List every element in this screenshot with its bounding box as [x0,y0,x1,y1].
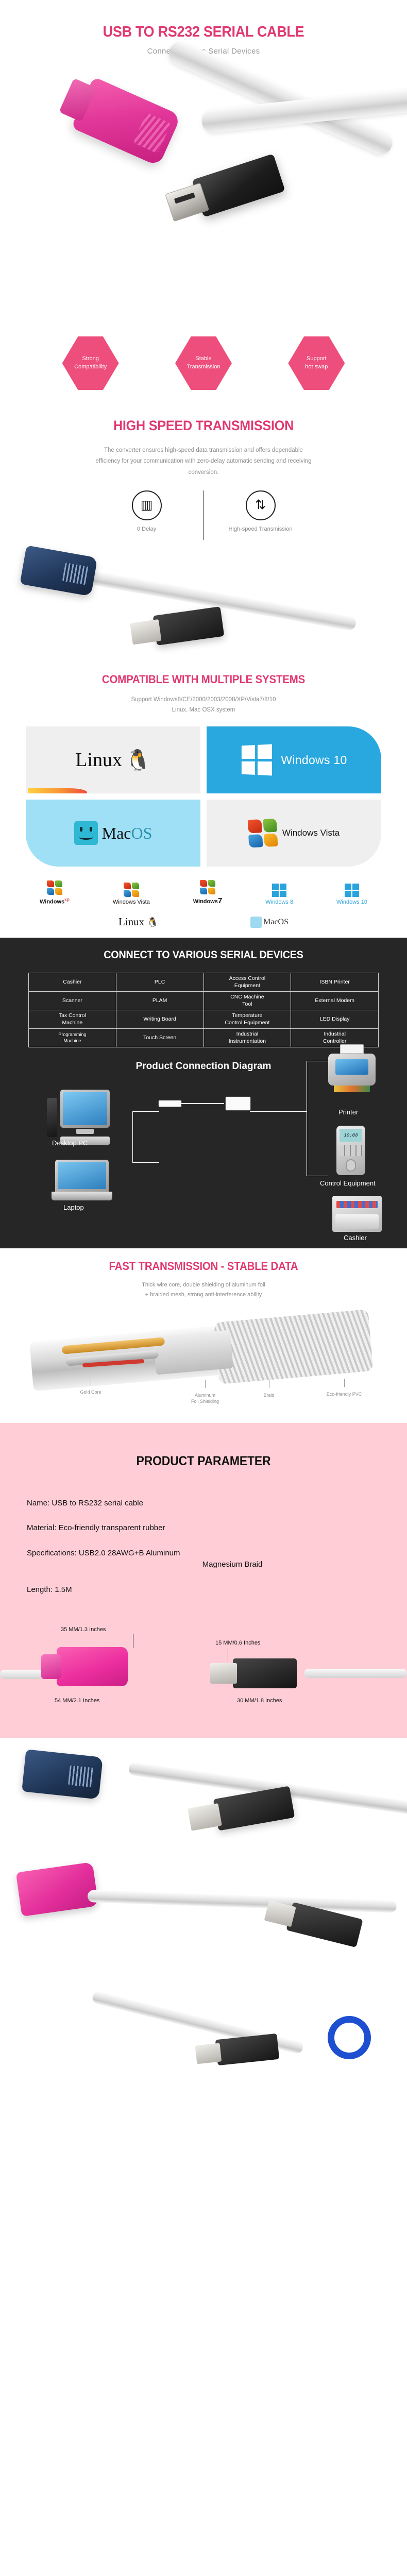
windows-flag-icon [242,744,272,776]
hexagon-shape: Support hot swap [288,336,345,390]
desktop-pc-icon [60,1090,110,1145]
hexagon-shape: Stable Transmission [175,336,232,390]
fast-transmission-title: FAST TRANSMISSION - STABLE DATA [14,1260,393,1273]
windows10-label: Windows 10 [281,753,347,767]
dim-tick [228,1648,228,1662]
cable-line [181,1103,224,1105]
connection-diagram: Desktop PC Laptop Printer [23,1078,384,1248]
pc-tower-icon [47,1098,57,1137]
feature-high-speed: ⇅ High-speed Transmission [209,490,312,532]
db9-connector-icon [22,1749,103,1799]
linux-mini: Linux 🐧 [118,916,159,928]
feature-zero-delay: ▥ 0 Delay [95,490,198,532]
callout-tick [344,1379,345,1387]
db9-connector-icon [71,77,181,166]
usb-to-rs232-cable-diagram [158,1100,251,1107]
table-cell: PLC [116,973,203,992]
access-terminal-body: 10:08 [336,1126,365,1175]
badge-line1: Strong [82,355,98,362]
vista-flag-icon [248,819,278,848]
feature-badges: Strong Compatibility Stable Transmission… [0,322,407,404]
access-terminal-display: 10:08 [340,1129,362,1142]
callout-tick [91,1378,91,1386]
fast-desc-line2: + braided mesh, strong anti-interference… [0,1290,407,1300]
table-cell: Access Control Equipment [203,973,291,992]
wire-vertical-right [307,1061,307,1176]
param-value: USB2.0 28AWG+B Aluminum [79,1549,180,1557]
vista-flag-icon [200,880,215,894]
param-value: 1.5M [55,1585,72,1594]
dim-tick [133,1634,133,1648]
page-title: USB TO RS232 SERIAL CABLE [14,0,393,41]
compat-desc-line2: Linux, Mac OSX system [0,705,407,715]
linux-wordmark: Linux [75,749,122,771]
serial-devices-section: CONNECT TO VARIOUS SERIAL DEVICES Cashie… [0,938,407,1248]
table-row: Scanner PLAM CNC Machine Tool External M… [29,992,379,1010]
register-keys [336,1201,378,1208]
wire-vertical-left [132,1111,133,1163]
table-cell: ISBN Printer [291,973,379,992]
compatibility-section: COMPATIBLE WITH MULTIPLE SYSTEMS Support… [0,662,407,938]
parameter-list: Name: USB to RS232 serial cable Material… [27,1498,407,1596]
mini-label: Windows Vista [113,899,150,905]
cashier-icon [332,1196,382,1232]
param-value-cont: Magnesium Braid [27,1559,407,1571]
monitor-icon [60,1090,110,1128]
vertical-divider [203,490,204,540]
finder-face-icon [74,821,98,845]
windows-flag-icon [272,884,286,897]
param-label: Specifications: [27,1549,77,1557]
parameter-row-specifications: Specifications: USB2.0 28AWG+B Aluminum … [27,1548,407,1571]
high-speed-feature-row: ▥ 0 Delay ⇅ High-speed Transmission [0,490,407,540]
device-table: Cashier PLC Access Control Equipment ISB… [28,973,379,1047]
wire-printer-branch [307,1061,328,1061]
cutaway-callouts: Gold Core Aluminum Foil Shielding Braid … [0,1382,407,1418]
hero-product-photo [0,44,407,322]
wire-horizontal-laptop [132,1162,159,1163]
os-logo-grid: Linux 🐧 Windows 10 MacOS Windows Vista [26,726,381,867]
db9-connector-icon [20,545,97,596]
badge-text: Support hot swap [305,355,328,371]
gold-core-callout: Gold Core [65,1389,116,1396]
vista-flag-icon [47,880,62,895]
badge-stable-transmission: Stable Transmission [173,336,234,390]
vista-label: Windows Vista [282,828,340,838]
product-shot-pink-db9 [0,1849,407,1959]
table-cell: Writing Board [116,1010,203,1029]
fast-transmission-description: Thick wire core, double shielding of alu… [0,1280,407,1300]
product-shot-coiled-cable [0,1959,407,2083]
product-detail-page: USB TO RS232 SERIAL CABLE Connect Variou… [0,0,407,2083]
mini-label: Windowsxp [40,897,70,905]
printer-icon [328,1044,376,1092]
usb-a-connector-icon [192,154,285,217]
cable-roll-icon: ▥ [132,490,162,520]
cable-coil-icon [328,2016,371,2059]
access-keypad [340,1145,362,1156]
table-cell: Temperature Control Equipment [203,1010,291,1029]
table-cell: Touch Screen [116,1029,203,1047]
mini-label: Windows 10 [336,899,367,905]
pvc-callout: Eco-friendly PVC [303,1391,385,1398]
diagram-label-control: Control Equipment [320,1179,376,1187]
diagram-label-laptop: Laptop [63,1204,84,1211]
windows-7-mini: Windows7 [193,880,223,905]
feature-label: High-speed Transmission [209,526,312,532]
windows-10-mini: Windows 10 [336,884,367,905]
table-cell: Programming Machine [29,1029,116,1047]
table-cell: Scanner [29,992,116,1010]
hexagon-shape: Strong Compatibility [62,336,119,390]
table-row: Tax Control Machine Writing Board Temper… [29,1010,379,1029]
diagram-label-desktop: Desktop PC [52,1139,88,1147]
badge-line2: Compatibility [74,364,107,370]
db9-connector-icon [16,1862,99,1917]
fast-desc-line1: Thick wire core, double shielding of alu… [0,1280,407,1290]
table-cell: Cashier [29,973,116,992]
printer-body [328,1054,376,1086]
diagram-label-printer: Printer [338,1108,358,1116]
macos-mini: MacOS [250,917,289,928]
macos-label: MacOS [263,918,289,927]
high-speed-title: HIGH SPEED TRANSMISSION [14,418,393,434]
product-photo-blue-connector [0,543,407,662]
usb-length-dim: 30 MM/1.8 Inches [237,1698,282,1704]
mini-label: Windows7 [193,896,223,905]
db9-plug-icon [225,1096,251,1111]
high-speed-description: The converter ensures high-speed data tr… [93,445,314,478]
cable-sheath-secondary-icon [201,88,407,134]
tux-penguin-icon: 🐧 [125,748,151,772]
wire-horizontal-left [132,1111,159,1112]
finder-face-icon [250,917,262,928]
parameter-row-length: Length: 1.5M [27,1584,407,1596]
db9-length-dim: 35 MM/1.3 Inches [61,1626,106,1633]
cable-right [304,1669,407,1678]
wire-horizontal-right [250,1111,307,1112]
usb-plug-icon [158,1100,182,1107]
cable-cutaway-diagram: Gold Core Aluminum Foil Shielding Braid … [0,1304,407,1423]
windows-vista-mini: Windows Vista [113,883,150,905]
badge-text: Strong Compatibility [74,355,107,371]
badge-strong-compatibility: Strong Compatibility [60,336,122,390]
braid-callout: Braid [248,1392,290,1399]
wire-cashier-branch [307,1176,328,1176]
macos-logo-tile: MacOS [26,800,200,867]
badge-line1: Support [307,355,327,362]
diagram-label-cashier: Cashier [344,1234,367,1242]
compatibility-title: COMPATIBLE WITH MULTIPLE SYSTEMS [14,673,393,686]
usb-height-dim: 15 MM/0.6 Inches [215,1640,260,1646]
aluminum-foil-callout: Aluminum Foil Shielding [179,1392,231,1405]
compatibility-description: Support Windows8/CE/2000/2003/2008/XP/Vi… [0,694,407,715]
badge-line1: Stable [195,355,211,362]
callout-tick [205,1380,206,1388]
windows-8-mini: Windows 8 [265,884,293,905]
hero-section: USB TO RS232 SERIAL CABLE Connect Variou… [0,0,407,322]
param-value: Eco-friendly transparent rubber [59,1523,165,1532]
laptop-screen [55,1160,109,1192]
usb-a-connector-icon [233,1658,297,1688]
laptop-icon [55,1160,112,1200]
cable-sheath-icon [88,1890,397,1913]
macos-label: MacOS [102,824,152,843]
param-value: USB to RS232 serial cable [52,1499,143,1507]
control-equipment-icon: 10:08 [336,1126,365,1175]
cash-register-body [332,1196,382,1232]
db9-connector-icon [57,1647,128,1686]
linux-swoosh-icon [28,788,87,793]
feature-label: 0 Delay [95,526,198,532]
up-down-arrows-icon: ⇅ [246,490,276,520]
param-label: Name: [27,1499,49,1507]
vista-flag-icon [124,883,139,897]
register-drawer [335,1214,379,1229]
usb-a-connector-icon [213,1786,295,1831]
compat-desc-line1: Support Windows8/CE/2000/2003/2008/XP/Vi… [0,694,407,705]
windows10-logo-tile: Windows 10 [207,726,381,793]
table-cell: PLAM [116,992,203,1010]
tux-penguin-icon: 🐧 [147,917,158,927]
aluminum-foil-layer [153,1330,233,1375]
laptop-base [52,1192,112,1200]
usb-a-connector-icon [215,2033,280,2065]
badge-text: Stable Transmission [186,355,220,371]
table-row: Cashier PLC Access Control Equipment ISB… [29,973,379,992]
table-cell: LED Display [291,1010,379,1029]
os-mini-logo-row: Windowsxp Windows Vista Windows7 Windows… [18,880,389,905]
linux-logo-tile: Linux 🐧 [26,726,200,793]
table-cell: Industrial Instrumentation [203,1029,291,1047]
parameter-row-name: Name: USB to RS232 serial cable [27,1498,407,1510]
high-speed-section: HIGH SPEED TRANSMISSION The converter en… [0,404,407,543]
product-parameter-section: PRODUCT PARAMETER Name: USB to RS232 ser… [0,1423,407,1738]
dimension-diagram: 35 MM/1.3 Inches 54 MM/2.1 Inches 15 MM/… [0,1609,407,1717]
linux-wordmark: Linux [118,916,144,928]
db9-width-dim: 54 MM/2.1 Inches [55,1698,99,1704]
fast-transmission-section: FAST TRANSMISSION - STABLE DATA Thick wi… [0,1248,407,1423]
braided-shell [214,1309,373,1384]
badge-line2: hot swap [305,364,328,370]
badge-line2: Transmission [186,364,220,370]
windows-flag-icon [345,884,359,897]
badge-support-hot-swap: Support hot swap [285,336,347,390]
printer-paper [340,1044,364,1054]
callout-tick [269,1380,269,1388]
table-cell: External Modem [291,992,379,1010]
monitor-stand [76,1129,94,1134]
serial-devices-title: CONNECT TO VARIOUS SERIAL DEVICES [12,949,395,961]
parameter-row-material: Material: Eco-friendly transparent rubbe… [27,1522,407,1534]
printer-output-photo [334,1086,370,1092]
windows-xp-mini: Windowsxp [40,880,70,905]
mini-label: Windows 8 [265,899,293,905]
product-shot-blue-db9 [0,1738,407,1849]
windows-vista-logo-tile: Windows Vista [207,800,381,867]
table-cell: Tax Control Machine [29,1010,116,1029]
table-row: Programming Machine Touch Screen Industr… [29,1029,379,1047]
os-mini-logo-row-2: Linux 🐧 MacOS [118,916,289,928]
fingerprint-reader-icon [346,1159,356,1172]
param-label: Material: [27,1523,57,1532]
usb-a-connector-icon [153,606,225,646]
table-cell: CNC Machine Tool [203,992,291,1010]
product-parameter-title: PRODUCT PARAMETER [16,1454,391,1469]
param-label: Length: [27,1585,53,1594]
